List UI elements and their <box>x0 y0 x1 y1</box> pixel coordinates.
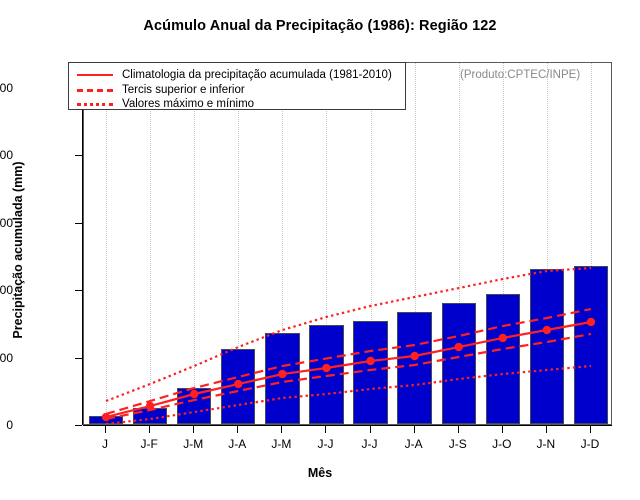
x-axis-line <box>83 425 612 426</box>
x-tick <box>149 426 150 433</box>
series-point <box>587 318 595 326</box>
x-tick-label: J-A <box>405 437 423 451</box>
plot-inner <box>84 63 611 424</box>
series-point <box>455 343 463 351</box>
x-tick-label: J-O <box>492 437 511 451</box>
legend-item-maxmin: Valores máximo e mínimo <box>77 96 254 111</box>
series-line <box>106 334 591 419</box>
y-tick-label: 3000 <box>0 216 13 230</box>
x-tick-label: J-J <box>362 437 378 451</box>
x-tick-label: J-J <box>317 437 333 451</box>
y-tick-label: 5000 <box>0 81 13 95</box>
legend-label: Tercis superior e inferior <box>122 84 245 96</box>
series-point <box>190 390 198 398</box>
x-tick <box>414 426 415 433</box>
x-tick <box>370 426 371 433</box>
series-point <box>410 352 418 360</box>
x-tick <box>590 426 591 433</box>
y-tick-label: 4000 <box>0 148 13 162</box>
product-attribution: (Produto:CPTEC/INPE) <box>460 69 580 81</box>
legend-dashed-line-icon <box>77 84 113 96</box>
x-tick-label: J <box>102 437 108 451</box>
y-tick <box>75 155 82 156</box>
series-point <box>366 357 374 365</box>
x-tick <box>325 426 326 433</box>
page-title: Acúmulo Anual da Precipitação (1986): Re… <box>0 18 640 34</box>
x-tick <box>237 426 238 433</box>
x-tick <box>546 426 547 433</box>
y-tick <box>75 290 82 291</box>
series-point <box>322 364 330 372</box>
x-tick <box>193 426 194 433</box>
x-tick <box>458 426 459 433</box>
y-tick <box>75 358 82 359</box>
y-tick-label: 1000 <box>0 351 13 365</box>
x-tick-label: J-M <box>183 437 203 451</box>
series-point <box>543 326 551 334</box>
x-tick-label: J-D <box>581 437 600 451</box>
legend-item-climatology: Climatologia da precipitação acumulada (… <box>77 67 392 82</box>
y-tick <box>75 223 82 224</box>
x-tick-label: J-M <box>271 437 291 451</box>
x-tick-label: J-F <box>140 437 157 451</box>
line-overlay <box>84 63 611 424</box>
plot-area <box>83 62 612 425</box>
x-tick-label: J-N <box>537 437 556 451</box>
legend: Climatologia da precipitação acumulada (… <box>68 62 406 110</box>
x-tick <box>281 426 282 433</box>
y-tick-label: 0 <box>6 418 13 432</box>
legend-item-tercis: Tercis superior e inferior <box>77 82 245 97</box>
y-tick <box>75 425 82 426</box>
chart-root: Acúmulo Anual da Precipitação (1986): Re… <box>0 0 640 500</box>
legend-label: Climatologia da precipitação acumulada (… <box>122 69 392 81</box>
series-line <box>106 366 591 424</box>
x-axis-label: Mês <box>0 466 640 480</box>
series-point <box>234 380 242 388</box>
series-point <box>499 334 507 342</box>
x-tick <box>105 426 106 433</box>
x-tick <box>502 426 503 433</box>
y-tick-label: 2000 <box>0 283 13 297</box>
series-point <box>278 370 286 378</box>
x-tick-label: J-A <box>228 437 246 451</box>
legend-solid-line-icon <box>77 69 113 81</box>
x-tick-label: J-S <box>449 437 467 451</box>
legend-dotted-line-icon <box>77 98 113 110</box>
legend-label: Valores máximo e mínimo <box>122 98 254 110</box>
